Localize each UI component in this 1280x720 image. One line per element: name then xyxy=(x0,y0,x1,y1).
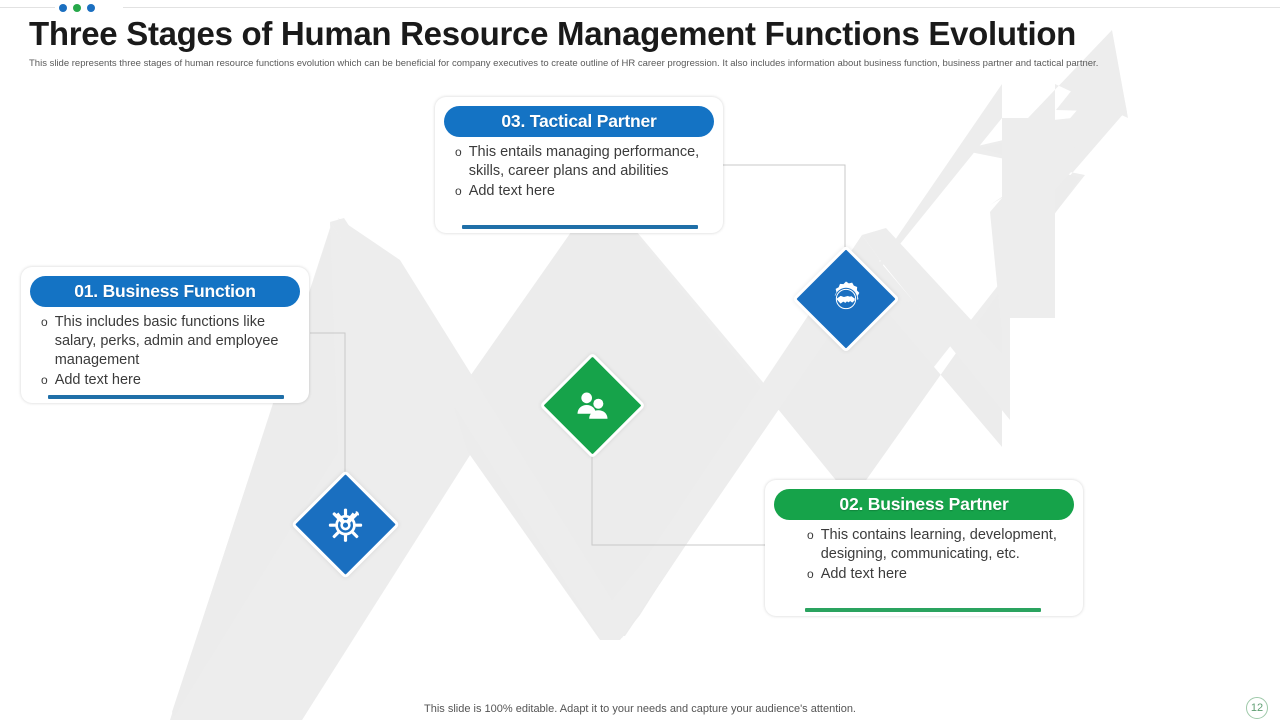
card-business-function-body: o This includes basic functions like sal… xyxy=(41,313,291,391)
card-tactical-partner-accent-bar xyxy=(462,225,698,229)
card-business-function[interactable]: 01. Business Function o This includes ba… xyxy=(21,267,309,403)
bullet-marker: o xyxy=(41,313,48,332)
card-business-partner[interactable]: 02. Business Partner o This contains lea… xyxy=(765,480,1083,616)
card-business-partner-body: o This contains learning, development, d… xyxy=(807,526,1082,585)
slide-canvas: Three Stages of Human Resource Managemen… xyxy=(0,0,1280,720)
connector-card3-to-diamond3 xyxy=(723,165,845,256)
connector-card1-to-diamond1 xyxy=(310,333,345,483)
list-item: o This entails managing performance, ski… xyxy=(455,143,705,181)
card-business-partner-header: 02. Business Partner xyxy=(774,489,1074,520)
card-tactical-partner-title: 03. Tactical Partner xyxy=(501,111,656,132)
card-business-function-title: 01. Business Function xyxy=(74,281,256,302)
bullet-text: This includes basic functions like salar… xyxy=(55,313,291,370)
blue-dot xyxy=(59,4,67,12)
list-item: o Add text here xyxy=(807,565,1082,584)
brand-dots xyxy=(55,2,123,14)
green-dot xyxy=(73,4,81,12)
bullet-marker: o xyxy=(455,143,462,162)
bullet-marker: o xyxy=(41,371,48,390)
card-business-partner-accent-bar xyxy=(805,608,1041,612)
card-tactical-partner[interactable]: 03. Tactical Partner o This entails mana… xyxy=(435,97,723,233)
bullet-text: This entails managing performance, skill… xyxy=(469,143,705,181)
bullet-marker: o xyxy=(807,565,814,584)
list-item: o Add text here xyxy=(41,371,291,390)
card-business-partner-title: 02. Business Partner xyxy=(839,494,1008,515)
bullet-marker: o xyxy=(455,182,462,201)
connector-diamond2-to-card2 xyxy=(592,452,767,545)
bullet-text: Add text here xyxy=(469,182,555,201)
card-business-function-accent-bar xyxy=(48,395,284,399)
gear-wrench-icon xyxy=(327,506,365,544)
list-item: o This contains learning, development, d… xyxy=(807,526,1082,564)
people-group-icon xyxy=(573,386,613,426)
card-tactical-partner-body: o This entails managing performance, ski… xyxy=(455,143,705,202)
list-item: o Add text here xyxy=(455,182,705,201)
gear-handshake-icon xyxy=(826,279,866,319)
bullet-marker: o xyxy=(807,526,814,545)
card-tactical-partner-header: 03. Tactical Partner xyxy=(444,106,714,137)
blue-dot xyxy=(87,4,95,12)
card-business-function-header: 01. Business Function xyxy=(30,276,300,307)
bullet-text: Add text here xyxy=(55,371,141,390)
list-item: o This includes basic functions like sal… xyxy=(41,313,291,370)
bullet-text: This contains learning, development, des… xyxy=(821,526,1082,564)
bullet-text: Add text here xyxy=(821,565,907,584)
